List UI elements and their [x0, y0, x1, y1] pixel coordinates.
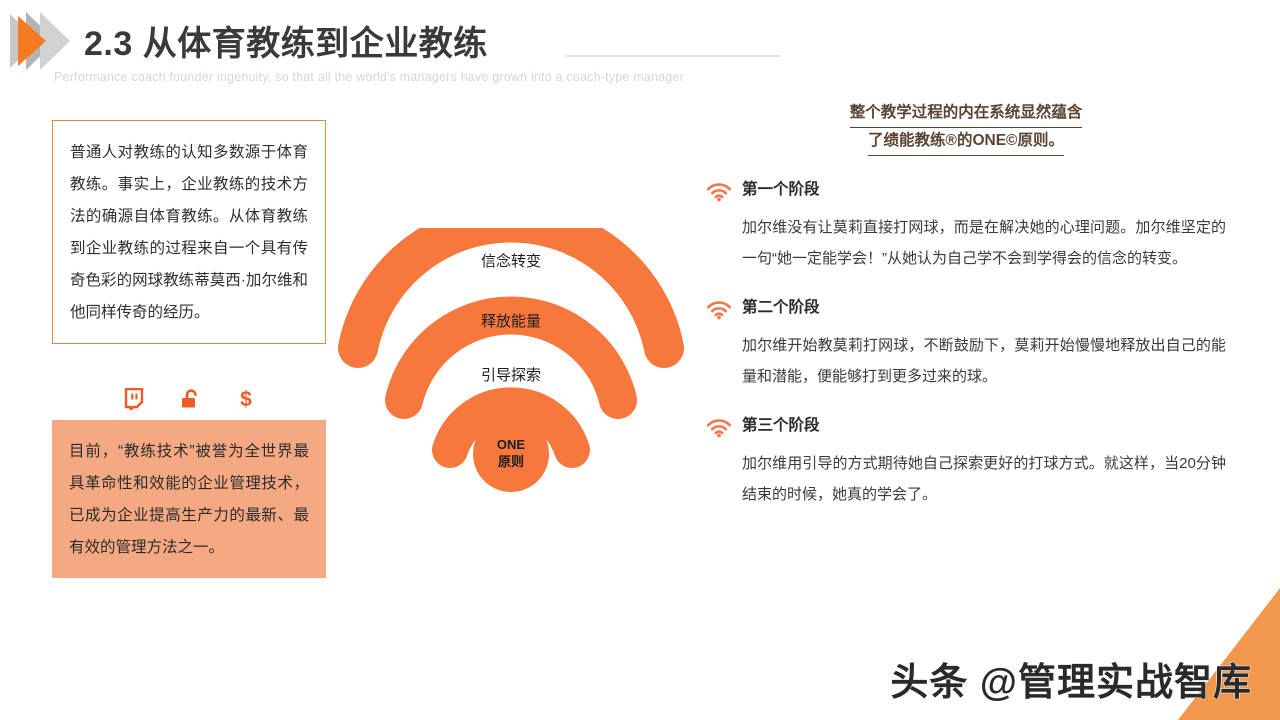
icon-row: $ — [52, 384, 326, 414]
wifi-icon — [706, 300, 732, 320]
wifi-icon — [706, 182, 732, 202]
unlock-icon[interactable] — [180, 388, 202, 410]
stage-body: 加尔维开始教莫莉打网球，不断鼓励下，莫莉开始慢慢地释放出自己的能量和潜能，便能够… — [742, 330, 1226, 392]
intro-text-box: 普通人对教练的认知多数源于体育教练。事实上，企业教练的技术方法的确源自体育教练。… — [52, 120, 326, 344]
dollar-icon[interactable]: $ — [238, 387, 254, 411]
page-title: 2.3 从体育教练到企业教练 — [84, 16, 488, 65]
wifi-signal-diagram: 信念转变 释放能量 引导探索 ONE 原则 — [336, 228, 686, 508]
stage-item-2: 第二个阶段 加尔维开始教莫莉打网球，不断鼓励下，莫莉开始慢慢地释放出自己的能量和… — [706, 298, 1226, 392]
wifi-arcs — [336, 228, 686, 508]
right-heading-line2: 了绩能教练®的ONE©原则。 — [868, 128, 1064, 156]
right-heading-line1: 整个教学过程的内在系统显然蕴含 — [850, 100, 1083, 128]
core-circle — [473, 416, 549, 492]
page-subtitle: Performance coach founder ingenuity, so … — [54, 70, 684, 84]
stage-title: 第三个阶段 — [742, 416, 1226, 436]
right-heading: 整个教学过程的内在系统显然蕴含 了绩能教练®的ONE©原则。 — [706, 100, 1226, 156]
title-divider — [566, 55, 780, 57]
stage-title: 第二个阶段 — [742, 298, 1226, 318]
highlight-text-box: 目前，“教练技术”被誉为全世界最具革命性和效能的企业管理技术，已成为企业提高生产… — [52, 420, 326, 578]
watermark: 头条 @管理实战智库 — [890, 651, 1252, 706]
triangle-arrow-icon — [6, 8, 84, 74]
slide-header: 2.3 从体育教练到企业教练 Performance coach founder… — [0, 0, 1280, 96]
right-column: 整个教学过程的内在系统显然蕴含 了绩能教练®的ONE©原则。 第一个阶段 加尔维… — [706, 100, 1226, 510]
stage-title: 第一个阶段 — [742, 180, 1226, 200]
stage-body: 加尔维用引导的方式期待她自己探索更好的打球方式。就这样，当20分钟结束的时候，她… — [742, 448, 1226, 510]
twitch-icon[interactable] — [124, 388, 144, 410]
stage-item-3: 第三个阶段 加尔维用引导的方式期待她自己探索更好的打球方式。就这样，当20分钟结… — [706, 416, 1226, 510]
left-column: 普通人对教练的认知多数源于体育教练。事实上，企业教练的技术方法的确源自体育教练。… — [52, 120, 326, 344]
arc-middle — [404, 316, 618, 400]
svg-text:$: $ — [240, 388, 252, 411]
stage-body: 加尔维没有让莫莉直接打网球，而是在解决她的心理问题。加尔维坚定的一句“她一定能学… — [742, 212, 1226, 274]
stage-item-1: 第一个阶段 加尔维没有让莫莉直接打网球，而是在解决她的心理问题。加尔维坚定的一句… — [706, 180, 1226, 274]
wifi-icon — [706, 418, 732, 438]
